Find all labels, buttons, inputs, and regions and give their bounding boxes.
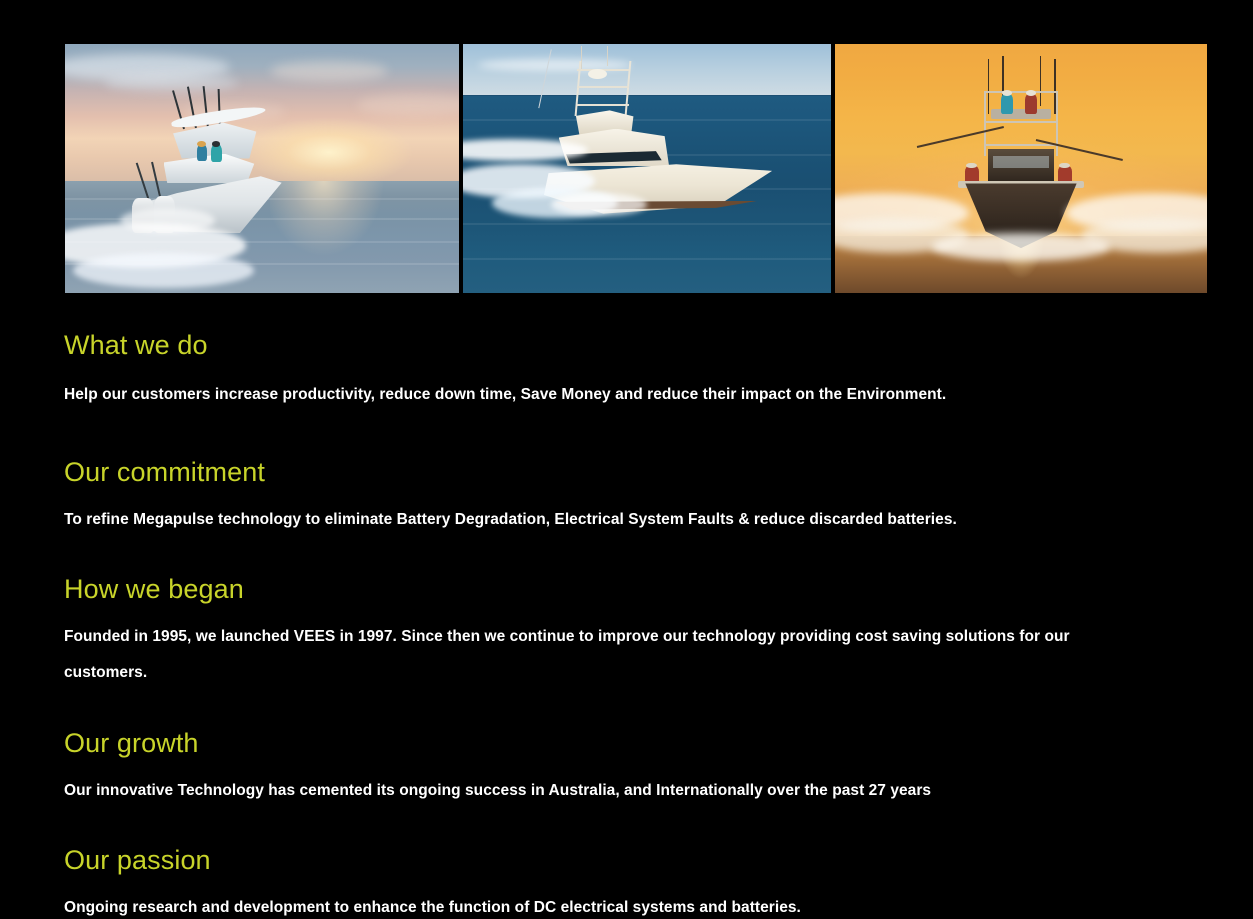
section-heading-how-we-began: How we began: [64, 574, 1164, 605]
illustration-golden-sunset-sportfish: [835, 44, 1207, 293]
tower-crossbar: [984, 91, 1058, 93]
hero-image-center-console-boat-sunset: [65, 44, 459, 293]
section-what-we-do: What we do Help our customers increase p…: [64, 330, 1164, 413]
section-heading-our-passion: Our passion: [64, 845, 1164, 876]
bow-spray: [932, 233, 1111, 260]
illustration-sportfish-yacht: [463, 44, 831, 293]
section-our-commitment: Our commitment To refine Megapulse techn…: [64, 457, 1164, 538]
angler-figure: [1025, 94, 1038, 114]
section-body-our-passion: Ongoing research and development to enha…: [64, 890, 1149, 919]
hero-image-sportfish-yacht-blue-ocean: [463, 44, 831, 293]
radar-dome: [588, 69, 606, 79]
section-our-passion: Our passion Ongoing research and develop…: [64, 845, 1164, 919]
angler-head: [1002, 90, 1012, 96]
hero-image-strip: [65, 44, 1207, 293]
section-our-growth: Our growth Our innovative Technology has…: [64, 728, 1164, 809]
boat-wake: [73, 253, 254, 288]
sun-reflection: [270, 181, 404, 281]
about-content: What we do Help our customers increase p…: [64, 330, 1164, 919]
tuna-tower: [984, 91, 1058, 156]
hero-image-sportfish-boat-golden-sunset: [835, 44, 1207, 293]
section-heading-what-we-do: What we do: [64, 330, 1164, 361]
tower-crossbar: [577, 104, 629, 106]
cabin-window: [993, 156, 1049, 168]
angler-figure: [1001, 94, 1014, 114]
boat-wake: [551, 193, 647, 215]
angler-head: [1026, 90, 1036, 96]
section-heading-our-commitment: Our commitment: [64, 457, 1164, 488]
section-heading-our-growth: Our growth: [64, 728, 1164, 759]
tower-crossbar: [984, 121, 1058, 123]
page-root: What we do Help our customers increase p…: [0, 0, 1253, 919]
water-ripple: [463, 119, 831, 121]
section-body-what-we-do: Help our customers increase productivity…: [64, 377, 1149, 413]
section-body-our-growth: Our innovative Technology has cemented i…: [64, 773, 1149, 809]
section-how-we-began: How we began Founded in 1995, we launche…: [64, 574, 1164, 691]
water-ripple: [463, 258, 831, 260]
section-body-how-we-began: Founded in 1995, we launched VEES in 199…: [64, 619, 1149, 691]
illustration-sunset-center-console: [65, 44, 459, 293]
section-body-our-commitment: To refine Megapulse technology to elimin…: [64, 502, 1149, 538]
water-ripple: [463, 223, 831, 225]
tower-crossbar: [984, 144, 1058, 146]
